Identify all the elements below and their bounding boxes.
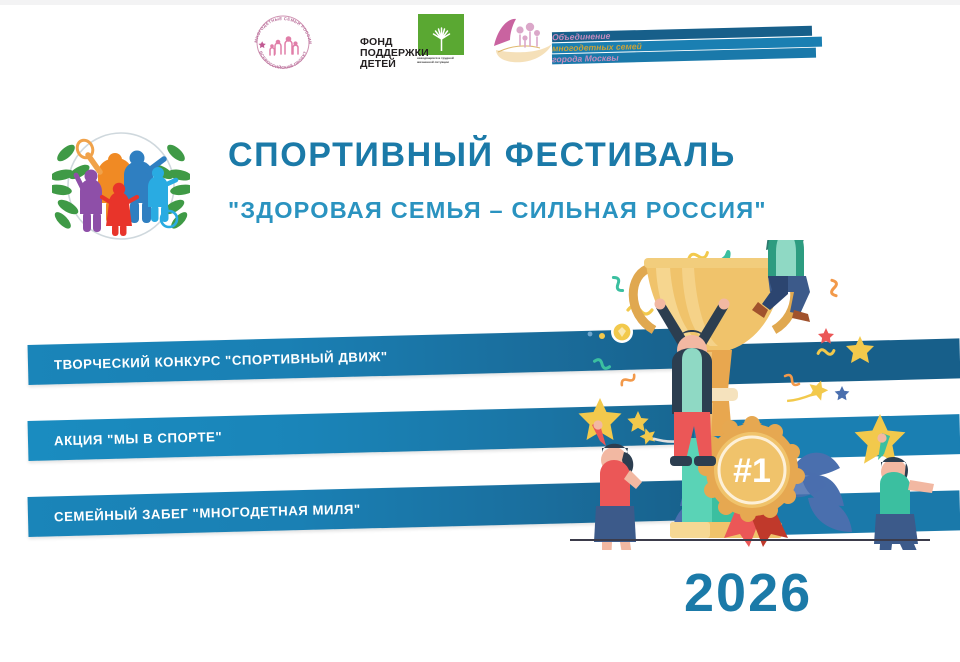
top-divider-strip: [0, 0, 960, 5]
partner-logo-row: МНОГОДЕТНЫЕ СЕМЬИ РОССИИ ВСЕРОССИЙСКИЙ П…: [0, 8, 960, 70]
banner-2-label: АКЦИЯ "МЫ В СПОРТЕ": [28, 429, 223, 449]
logo-obedinenie-mnogodetnyh-semey: Объединение многодетных семей города Мос…: [490, 16, 625, 68]
page-title: СПОРТИВНЫЙ ФЕСТИВАЛЬ: [228, 138, 868, 172]
trophy-celebration-illustration: #1: [570, 240, 960, 550]
logo-vserossiyskiy-proekt: МНОГОДЕТНЫЕ СЕМЬИ РОССИИ ВСЕРОССИЙСКИЙ П…: [245, 14, 323, 70]
banner-3-label: СЕМЕЙНЫЙ ЗАБЕГ "МНОГОДЕТНАЯ МИЛЯ": [28, 501, 361, 524]
family-sport-emblem: [52, 127, 190, 245]
svg-text:МНОГОДЕТНЫЕ СЕМЬИ РОССИИ: МНОГОДЕТНЫЕ СЕМЬИ РОССИИ: [253, 16, 313, 45]
logo2-small-text: находящихся в трудной жизненной ситуации: [417, 57, 465, 64]
page-subtitle: "ЗДОРОВАЯ СЕМЬЯ – СИЛЬНАЯ РОССИЯ": [228, 199, 908, 223]
logo2-line1: ФОНД: [360, 37, 393, 48]
swan-family-icon: [490, 16, 560, 66]
poster-canvas: МНОГОДЕТНЫЕ СЕМЬИ РОССИИ ВСЕРОССИЙСКИЙ П…: [0, 0, 960, 662]
tree-icon: [430, 18, 453, 51]
medal-label: #1: [733, 452, 771, 490]
logo2-line3: ДЕТЕЙ: [360, 59, 396, 70]
svg-text:ВСЕРОССИЙСКИЙ ПРОЕКТ: ВСЕРОССИЙСКИЙ ПРОЕКТ: [258, 50, 308, 70]
year-label: 2026: [684, 566, 812, 620]
banner-1-label: ТВОРЧЕСКИЙ КОНКУРС "СПОРТИВНЫЙ ДВИЖ": [28, 348, 388, 372]
logo-fond-podderzhki-detey: ФОНД ПОДДЕРЖКИ ДЕТЕЙ находящихся в трудн…: [360, 14, 464, 68]
